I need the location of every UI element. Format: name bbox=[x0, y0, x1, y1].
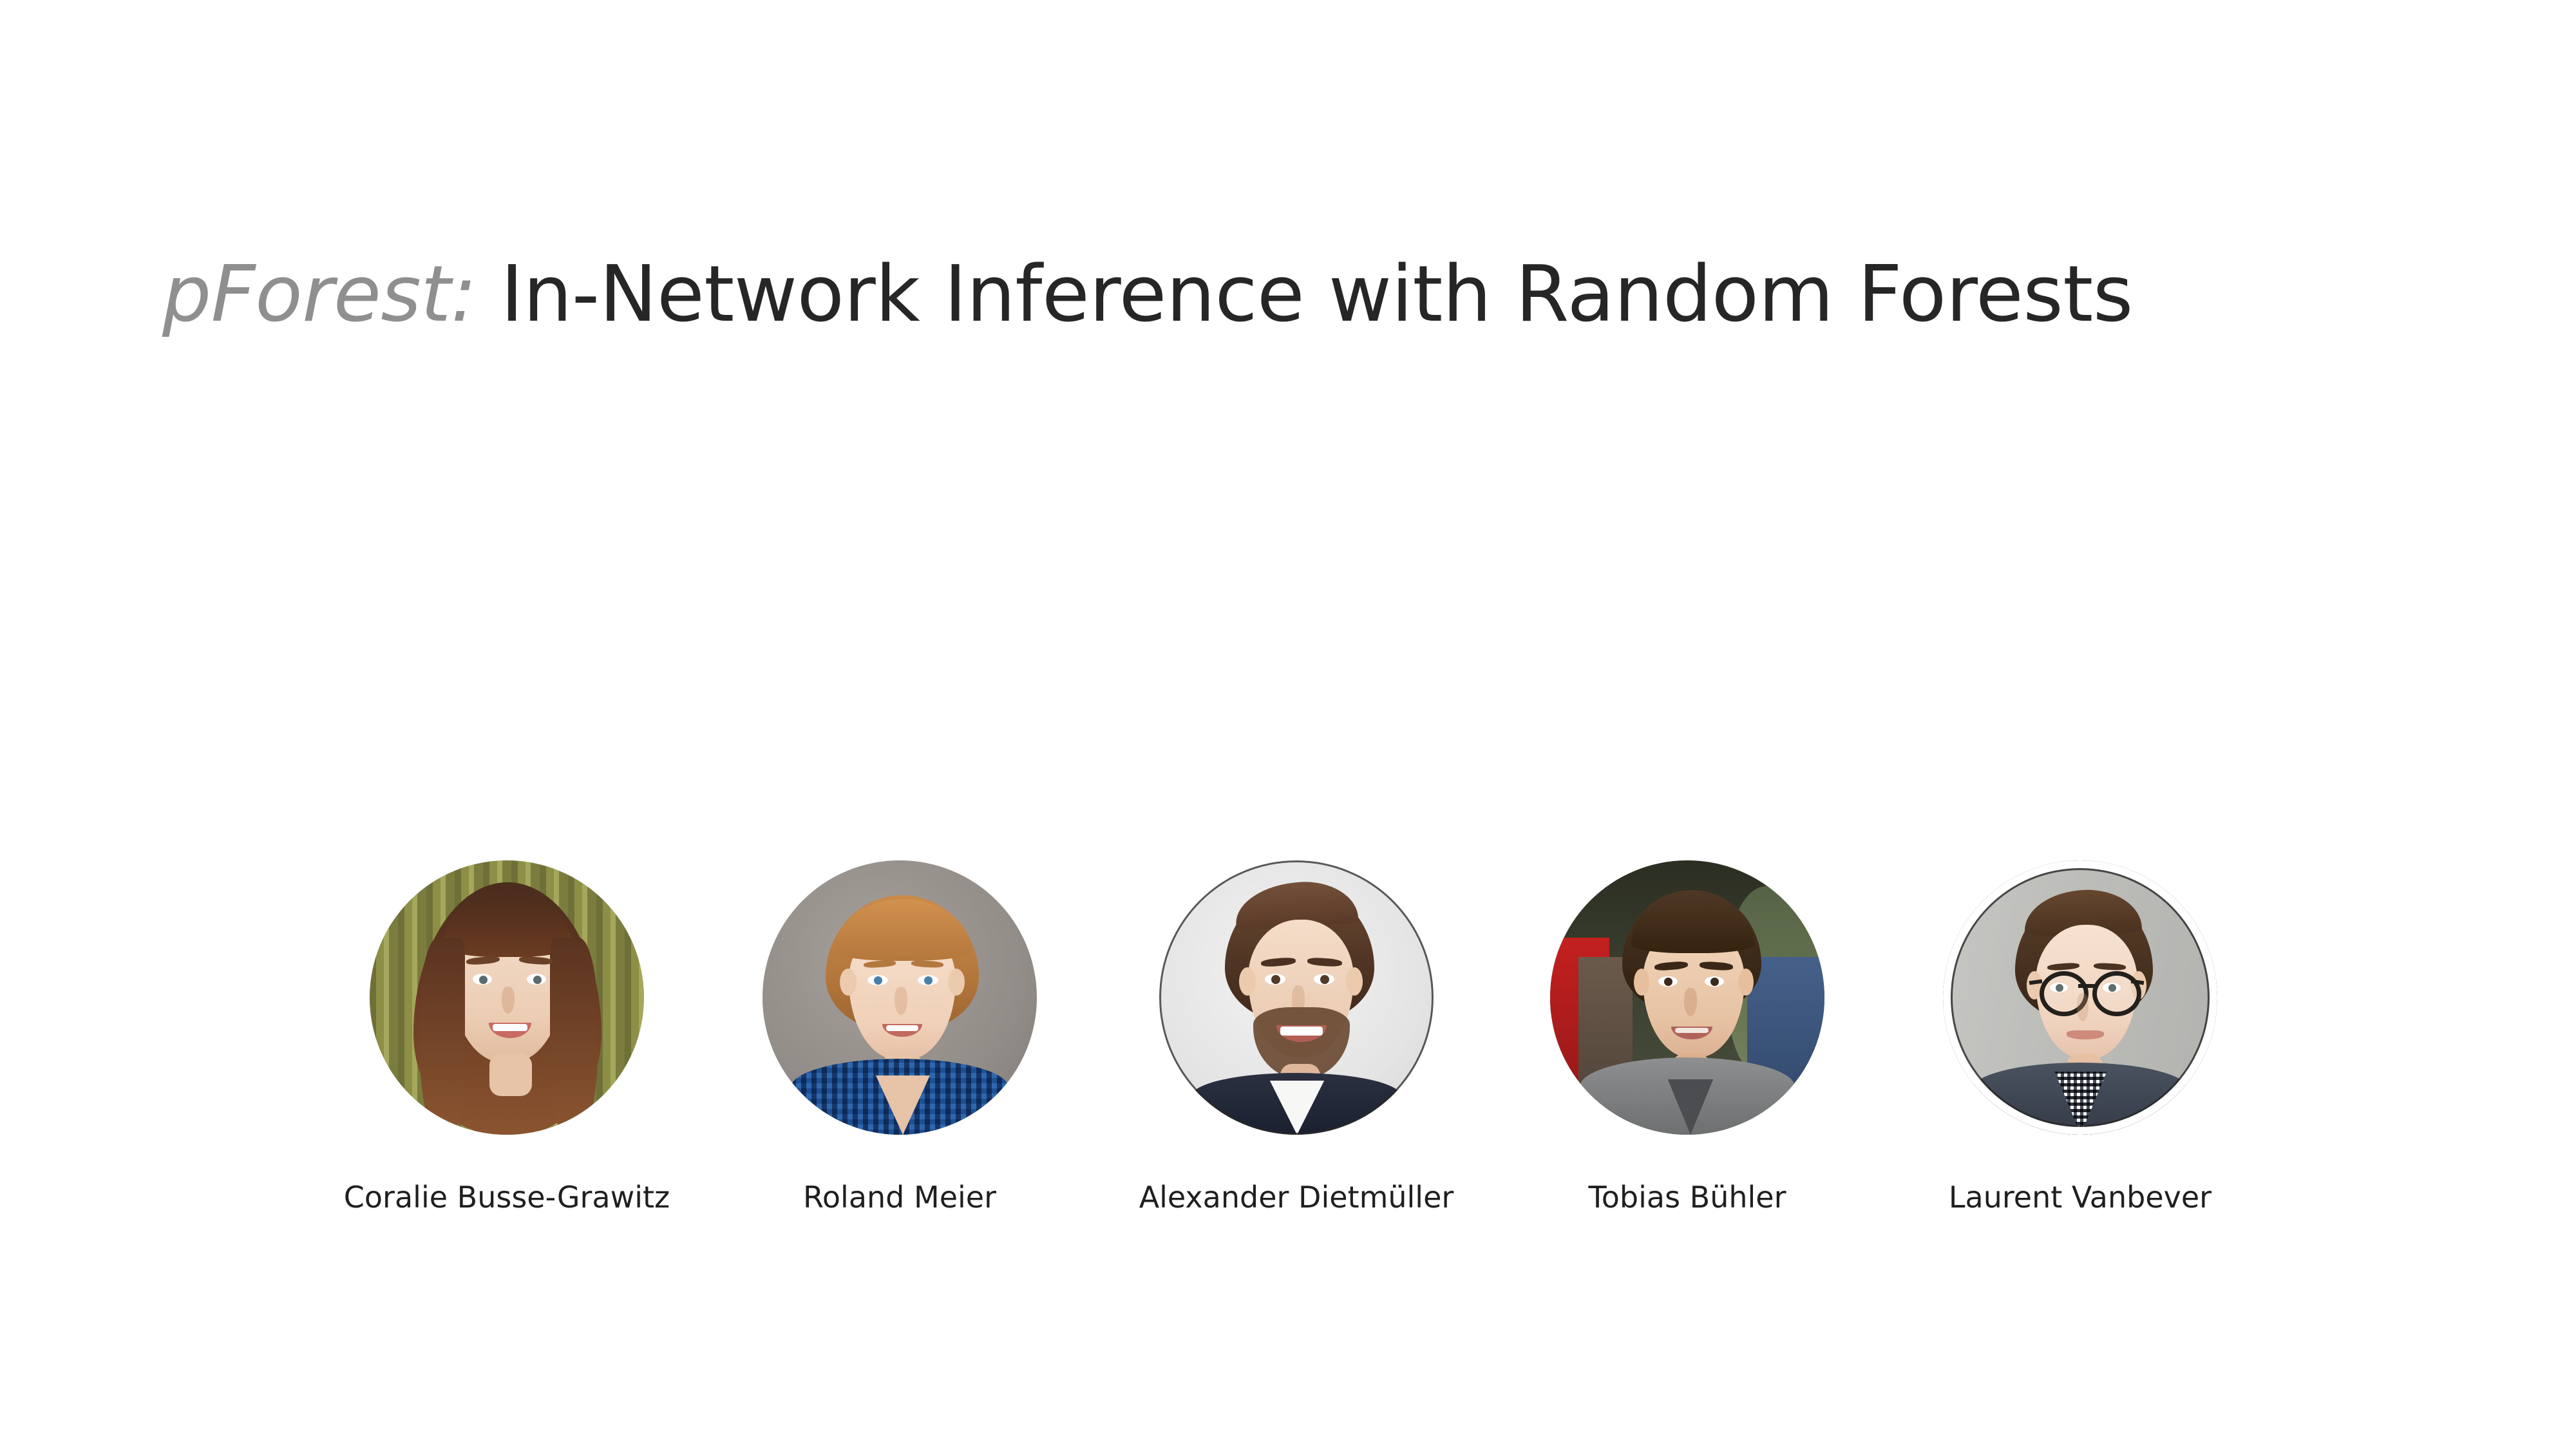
avatar bbox=[370, 860, 644, 1135]
title-prefix: pForest: bbox=[162, 250, 477, 339]
avatar bbox=[762, 860, 1037, 1135]
author-item: Tobias Bühler bbox=[1507, 860, 1868, 1215]
avatar bbox=[1943, 860, 2217, 1135]
avatar bbox=[1159, 860, 1434, 1135]
author-name: Alexander Dietmüller bbox=[1116, 1180, 1477, 1215]
author-name: Laurent Vanbever bbox=[1900, 1180, 2260, 1215]
page-title: pForest: In-Network Inference with Rando… bbox=[162, 256, 2133, 334]
author-item: Laurent Vanbever bbox=[1900, 860, 2260, 1215]
author-item: Alexander Dietmüller bbox=[1116, 860, 1477, 1215]
title-main: In-Network Inference with Random Forests bbox=[477, 250, 2133, 339]
slide-canvas: pForest: In-Network Inference with Rando… bbox=[0, 0, 2576, 1449]
author-name: Roland Meier bbox=[719, 1180, 1080, 1215]
author-name: Coralie Busse-Grawitz bbox=[327, 1180, 687, 1215]
author-name: Tobias Bühler bbox=[1507, 1180, 1868, 1215]
avatar bbox=[1550, 860, 1824, 1135]
author-item: Roland Meier bbox=[719, 860, 1080, 1215]
author-item: Coralie Busse-Grawitz bbox=[327, 860, 687, 1215]
author-list: Coralie Busse-Grawitz bbox=[0, 860, 2576, 1273]
